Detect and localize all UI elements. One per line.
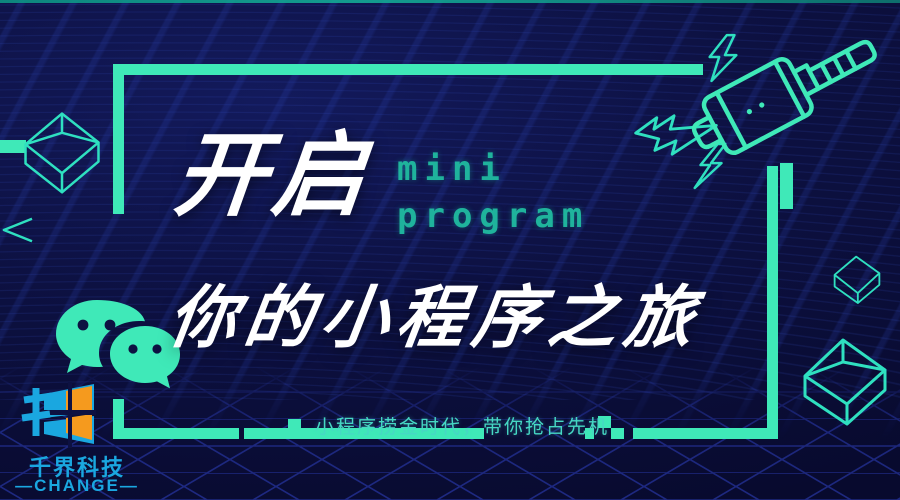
frame-bottom-bar-right xyxy=(633,428,778,439)
headline-chinese: 开启 xyxy=(170,130,376,222)
company-logo: 千界科技 —CHANGE— xyxy=(8,378,140,496)
wireframe-cube-icon xyxy=(826,250,888,308)
headline-english-block: mini program xyxy=(397,150,589,238)
logo-mark-icon xyxy=(8,378,140,450)
wireframe-cube-icon xyxy=(795,332,895,432)
headline-program: program xyxy=(397,195,589,238)
frame-left-upper-bar xyxy=(113,64,124,214)
frame-top-bar xyxy=(113,64,703,75)
tagline-text: 小程序捞金时代，带你抢占先机 xyxy=(315,412,609,439)
logo-name-english: —CHANGE— xyxy=(14,476,140,496)
frame-accent-square-1 xyxy=(611,428,624,439)
tagline-row: 小程序捞金时代，带你抢占先机 xyxy=(288,412,609,439)
subheadline-chinese: 你的小程序之旅 xyxy=(163,262,709,361)
headline-mini: mini xyxy=(397,150,589,189)
top-rule xyxy=(0,0,900,3)
tagline-bullet-square xyxy=(288,419,301,432)
headline-row: 开启 mini program xyxy=(175,130,589,238)
mjolnir-hammer-icon xyxy=(686,28,896,198)
promo-banner: 开启 mini program 你的小程序之旅 小程序捞金时代，带你抢占先机 千 xyxy=(0,0,900,500)
wireframe-cube-icon xyxy=(14,104,110,200)
arrow-accent-icon xyxy=(0,215,34,245)
frame-right-bar xyxy=(767,166,778,439)
